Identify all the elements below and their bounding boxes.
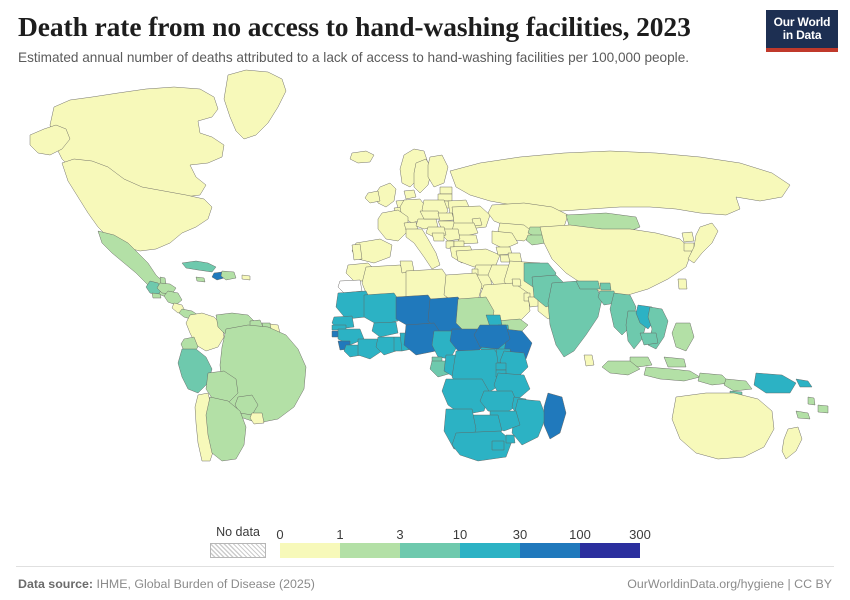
legend-bin-5[interactable] (580, 543, 640, 558)
country-zambia[interactable] (480, 391, 518, 413)
country-shapes[interactable] (30, 70, 828, 461)
country-sri-lanka[interactable] (584, 355, 594, 366)
map-legend: No data 0131030100300 (0, 510, 850, 566)
chart-root: Death rate from no access to hand-washin… (0, 0, 850, 600)
legend-no-data-label: No data (216, 525, 260, 539)
country-eswatini[interactable] (506, 435, 515, 443)
data-source: Data source: IHME, Global Burden of Dise… (18, 577, 315, 591)
data-source-value: IHME, Global Burden of Disease (2025) (97, 577, 315, 591)
legend-tick-10: 10 (453, 527, 467, 542)
country-france[interactable] (378, 210, 408, 241)
country-turkey[interactable] (456, 249, 500, 267)
country-fiji[interactable] (818, 405, 828, 413)
country-philippines[interactable] (672, 323, 694, 351)
legend-bin-4[interactable] (520, 543, 580, 558)
legend-tick-30: 30 (513, 527, 527, 542)
country-north-korea[interactable] (682, 232, 694, 242)
country-solomon-islands[interactable] (796, 379, 812, 387)
country-india[interactable] (548, 281, 602, 357)
legend-bin-1[interactable] (340, 543, 400, 558)
legend-tick-100: 100 (569, 527, 591, 542)
country-burkina-faso[interactable] (372, 322, 398, 337)
country-indonesia[interactable] (724, 379, 752, 391)
data-source-label: Data source: (18, 577, 93, 591)
attribution-link[interactable]: OurWorldinData.org/hygiene | CC BY (627, 577, 832, 591)
country-vanuatu[interactable] (808, 397, 815, 405)
owid-logo-line1: Our World (768, 16, 836, 29)
country-cambodia[interactable] (640, 333, 658, 345)
country-nicaragua[interactable] (164, 291, 182, 305)
page-title: Death rate from no access to hand-washin… (18, 12, 834, 43)
country-western-sahara[interactable] (338, 280, 362, 293)
country-bosnia-and-herzegovina[interactable] (432, 233, 444, 241)
legend-scale[interactable]: 0131030100300 (280, 526, 640, 558)
legend-bin-3[interactable] (460, 543, 520, 558)
country-cuba[interactable] (182, 261, 216, 272)
world-map-svg[interactable] (0, 67, 850, 462)
world-map[interactable] (0, 67, 850, 510)
legend-bin-2[interactable] (400, 543, 460, 558)
country-united-states[interactable] (242, 275, 250, 280)
country-ireland[interactable] (365, 191, 380, 203)
country-greenland[interactable] (224, 70, 286, 139)
country-taiwan[interactable] (678, 279, 687, 289)
country-indonesia[interactable] (644, 367, 700, 381)
country-new-caledonia[interactable] (796, 411, 810, 419)
legend-tick-0: 0 (276, 527, 283, 542)
country-jamaica[interactable] (196, 277, 205, 282)
country-lesotho[interactable] (492, 441, 504, 450)
country-malaysia[interactable] (664, 357, 686, 367)
country-dominican-republic[interactable] (221, 271, 236, 280)
country-rwanda[interactable] (496, 363, 506, 370)
country-australia[interactable] (672, 393, 774, 459)
chart-footer: Data source: IHME, Global Burden of Dise… (0, 567, 850, 600)
country-denmark[interactable] (404, 190, 416, 199)
legend-tick-3: 3 (396, 527, 403, 542)
country-uruguay[interactable] (250, 413, 264, 424)
country-finland[interactable] (428, 155, 448, 187)
country-new-zealand[interactable] (782, 427, 802, 459)
legend-bin-0[interactable] (280, 543, 340, 558)
country-nepal[interactable] (576, 281, 600, 289)
country-estonia[interactable] (440, 187, 452, 194)
owid-logo[interactable]: Our World in Data (766, 10, 838, 52)
legend-tick-1: 1 (336, 527, 343, 542)
country-madagascar[interactable] (544, 393, 566, 439)
owid-logo-line2: in Data (768, 29, 836, 42)
country-bhutan[interactable] (600, 283, 611, 290)
chart-header: Death rate from no access to hand-washin… (0, 0, 850, 67)
country-kuwait[interactable] (512, 279, 521, 286)
chart-subtitle: Estimated annual number of deaths attrib… (18, 49, 834, 67)
legend-no-data[interactable]: No data (210, 525, 266, 558)
country-el-salvador[interactable] (152, 293, 161, 298)
country-papua-new-guinea[interactable] (754, 373, 796, 393)
country-slovakia[interactable] (438, 213, 454, 221)
country-north-macedonia[interactable] (454, 241, 464, 247)
legend-tick-labels: 0131030100300 (280, 526, 640, 543)
country-iceland[interactable] (350, 151, 374, 163)
legend-no-data-swatch[interactable] (210, 543, 266, 558)
country-portugal[interactable] (352, 244, 362, 260)
legend-tick-300: 300 (629, 527, 651, 542)
legend-color-bars[interactable] (280, 543, 640, 558)
